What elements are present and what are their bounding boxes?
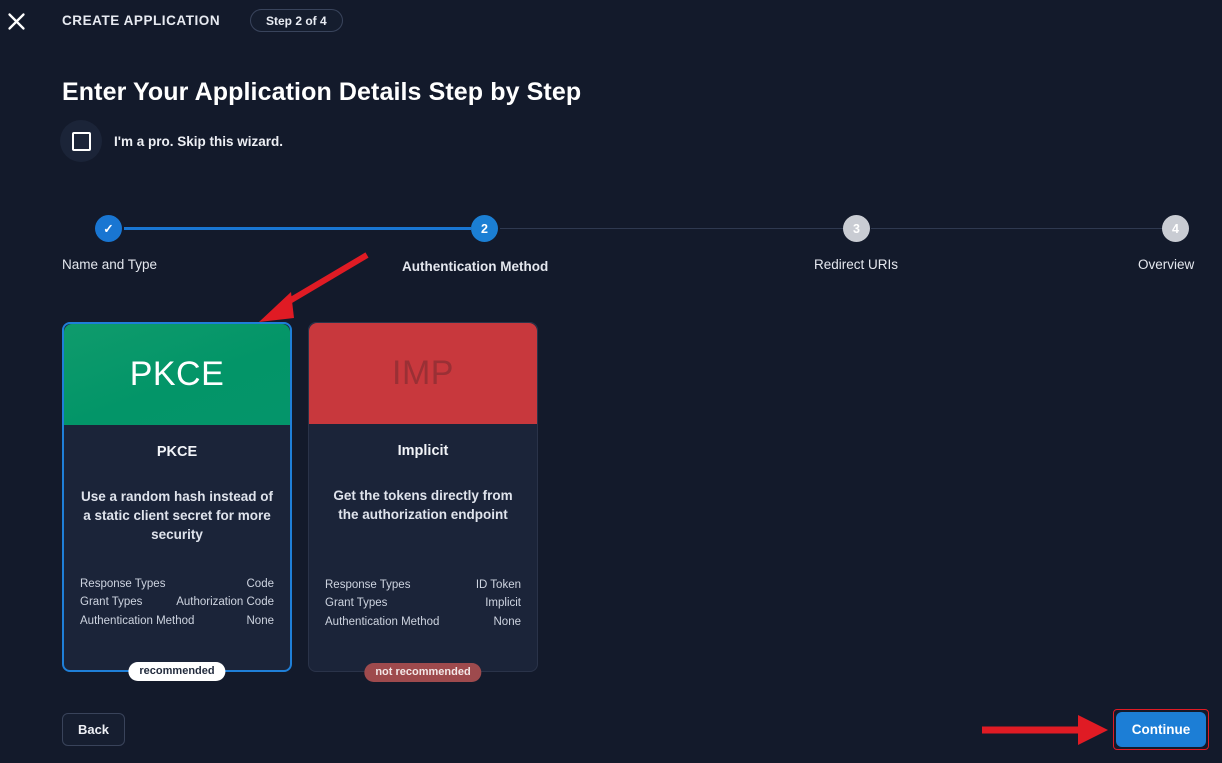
implicit-title: Implicit [323, 443, 523, 459]
arrow-to-continue-icon [980, 714, 1115, 746]
pkce-title: PKCE [78, 444, 276, 460]
pkce-spec-value: Code [247, 575, 275, 593]
pkce-banner: PKCE [64, 324, 290, 425]
skip-wizard-row[interactable]: I'm a pro. Skip this wizard. [60, 120, 283, 162]
skip-wizard-label: I'm a pro. Skip this wizard. [114, 134, 283, 149]
auth-option-pkce-inner: PKCE PKCE Use a random hash instead of a… [64, 324, 290, 670]
checkbox-square-icon [72, 132, 91, 151]
pkce-spec-value: None [247, 612, 275, 630]
implicit-spec-key: Response Types [325, 576, 410, 594]
pkce-spec-value: Authorization Code [176, 593, 274, 611]
step-indicator-badge: Step 2 of 4 [250, 9, 343, 32]
stepper-circle-2[interactable]: 2 [471, 215, 498, 242]
implicit-body: Implicit Get the tokens directly from th… [309, 443, 537, 524]
stepper-label-3: Redirect URIs [814, 257, 898, 272]
pkce-spec-key: Response Types [80, 575, 165, 593]
back-button[interactable]: Back [62, 713, 125, 746]
stepper-step-4[interactable]: 4 Overview [1162, 215, 1189, 242]
implicit-spec-row: Response Types ID Token [325, 576, 521, 594]
top-bar: CREATE APPLICATION Step 2 of 4 [0, 0, 1222, 41]
pkce-spec-row: Response Types Code [80, 575, 274, 593]
stepper-circle-3[interactable]: 3 [843, 215, 870, 242]
continue-button[interactable]: Continue [1116, 712, 1206, 747]
page-title: CREATE APPLICATION [62, 13, 220, 28]
implicit-spec-value: ID Token [476, 576, 521, 594]
implicit-spec-key: Authentication Method [325, 613, 439, 631]
pkce-spec-key: Grant Types [80, 593, 142, 611]
stepper-label-4: Overview [1138, 257, 1194, 272]
pkce-spec-row: Authentication Method None [80, 612, 274, 630]
stepper-step-2[interactable]: 2 Authentication Method [471, 215, 498, 242]
skip-wizard-checkbox[interactable] [60, 120, 102, 162]
stepper-connector-1 [124, 227, 471, 230]
pkce-spec-row: Grant Types Authorization Code [80, 593, 274, 611]
pkce-body: PKCE Use a random hash instead of a stat… [64, 444, 290, 544]
pkce-description: Use a random hash instead of a static cl… [78, 487, 276, 544]
implicit-description: Get the tokens directly from the authori… [323, 486, 523, 524]
pkce-spec-list: Response Types Code Grant Types Authoriz… [80, 575, 274, 630]
stepper-connector-3 [871, 228, 1162, 229]
stepper-label-1: Name and Type [62, 257, 157, 272]
implicit-spec-value: None [494, 613, 522, 631]
stepper-connector-2 [500, 228, 843, 229]
implicit-spec-value: Implicit [485, 594, 521, 612]
auth-option-implicit-inner: IMP Implicit Get the tokens directly fro… [309, 323, 537, 671]
stepper-step-3[interactable]: 3 Redirect URIs [843, 215, 870, 242]
stepper-circle-4[interactable]: 4 [1162, 215, 1189, 242]
implicit-banner: IMP [309, 323, 537, 424]
auth-option-implicit[interactable]: IMP Implicit Get the tokens directly fro… [308, 322, 538, 672]
implicit-spec-row: Authentication Method None [325, 613, 521, 631]
create-application-wizard: CREATE APPLICATION Step 2 of 4 Enter You… [0, 0, 1222, 763]
pkce-recommended-badge: recommended [128, 662, 225, 681]
wizard-heading: Enter Your Application Details Step by S… [62, 78, 581, 107]
stepper-label-2: Authentication Method [402, 259, 548, 274]
close-icon[interactable] [2, 7, 30, 35]
stepper-circle-1[interactable]: ✓ [95, 215, 122, 242]
stepper-step-1[interactable]: ✓ Name and Type [95, 215, 122, 242]
wizard-stepper: ✓ Name and Type 2 Authentication Method … [0, 215, 1222, 285]
implicit-spec-key: Grant Types [325, 594, 387, 612]
pkce-spec-key: Authentication Method [80, 612, 194, 630]
implicit-spec-row: Grant Types Implicit [325, 594, 521, 612]
auth-option-pkce[interactable]: PKCE PKCE Use a random hash instead of a… [62, 322, 292, 672]
implicit-not-recommended-badge: not recommended [364, 663, 481, 682]
implicit-spec-list: Response Types ID Token Grant Types Impl… [325, 576, 521, 631]
